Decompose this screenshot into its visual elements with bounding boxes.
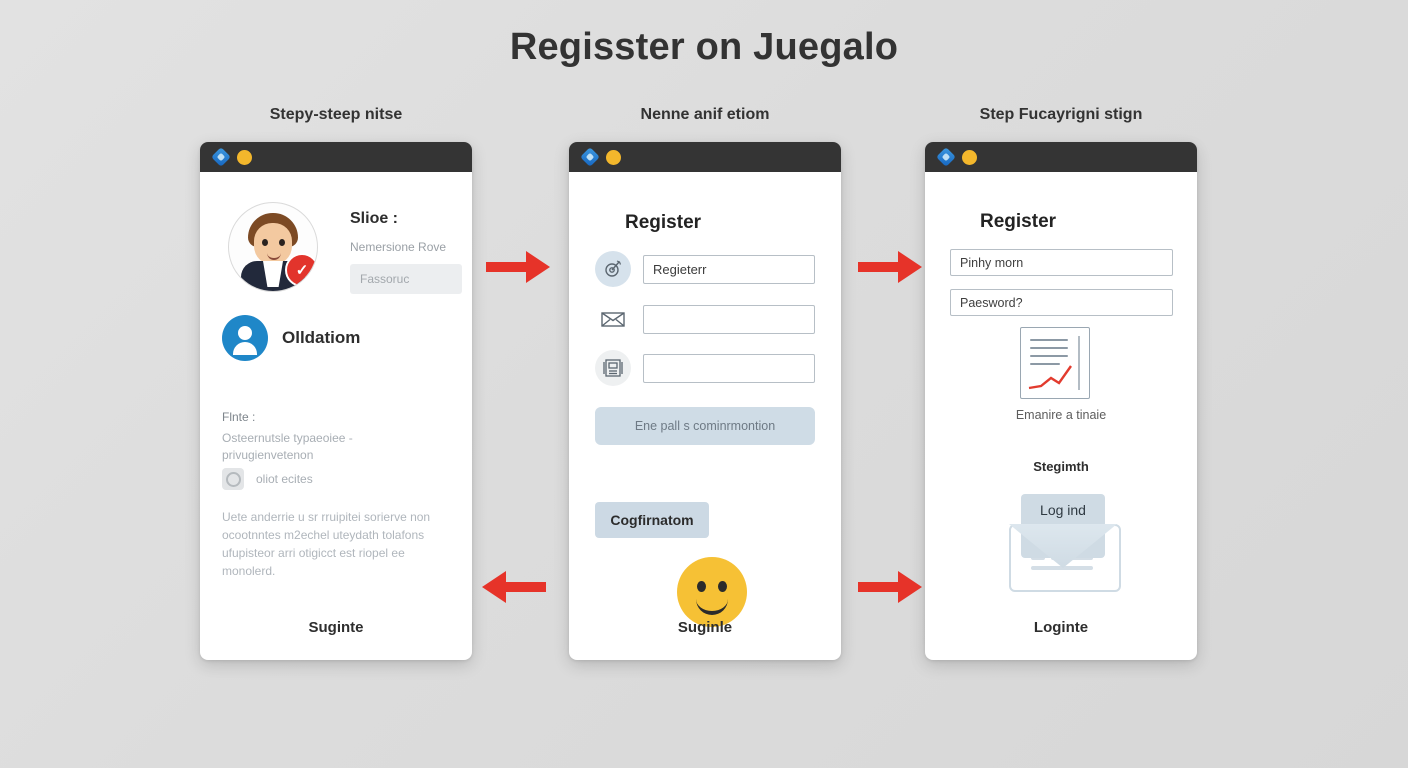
envelope-icon xyxy=(595,301,631,337)
send-confirmation-button[interactable]: Ene pall s cominrmontion xyxy=(595,407,815,445)
arrow-shaft xyxy=(500,582,546,592)
card-two-body: Register Regieterr xyxy=(569,172,841,660)
arrow-card2-to-card1-bottom xyxy=(476,571,546,603)
diamond-icon xyxy=(580,147,600,167)
email-input[interactable] xyxy=(643,305,815,334)
validation-label: Olldatiom xyxy=(282,328,360,348)
avatar-row: ✓ Slioe : Nemersione Rove Fassoruc xyxy=(218,202,456,302)
avatar-eye-right xyxy=(279,239,285,246)
diamond-icon xyxy=(936,147,956,167)
slide-title: Slioe : xyxy=(350,210,462,228)
arrow-head xyxy=(482,571,506,603)
smiley-mouth xyxy=(696,593,728,615)
column-two: Nenne anif etiom Register xyxy=(569,104,841,660)
confirm-button[interactable]: Cogfirnatom xyxy=(595,502,709,538)
page-title: Regisster on Juegalo xyxy=(0,26,1408,69)
circle-dot-icon xyxy=(237,150,252,165)
column-one-header: Stepy-steep nitse xyxy=(200,104,472,126)
envelope-open-icon: Log ind xyxy=(1003,494,1123,592)
register-heading: Register xyxy=(625,212,701,234)
radio-circle-icon[interactable] xyxy=(222,468,244,490)
card-three-body: Register Pinhy morn Paesword? Emanire a … xyxy=(925,172,1197,660)
password-field[interactable]: Fassoruc xyxy=(350,264,462,294)
card-step-three[interactable]: Register Pinhy morn Paesword? Emanire a … xyxy=(925,142,1197,660)
card-two-footer-label: Suginle xyxy=(569,619,841,636)
slide-subtitle: Nemersione Rove xyxy=(350,240,462,254)
arrow-head xyxy=(898,251,922,283)
strength-label: Stegimth xyxy=(925,459,1197,474)
diamond-icon xyxy=(211,147,231,167)
circle-dot-icon xyxy=(606,150,621,165)
register-heading: Register xyxy=(980,211,1056,233)
card-one-titlebar xyxy=(200,142,472,172)
user-avatar: ✓ xyxy=(228,202,318,292)
card-three-footer-label: Loginte xyxy=(925,619,1197,636)
id-card-icon xyxy=(595,350,631,386)
doc-line xyxy=(1030,355,1068,357)
card-two-titlebar xyxy=(569,142,841,172)
login-password-input[interactable]: Paesword? xyxy=(950,289,1173,316)
arrow-card2-to-card3-bottom xyxy=(858,571,928,603)
avatar-eye-left xyxy=(262,239,268,246)
arrow-head xyxy=(526,251,550,283)
username-input[interactable]: Regieterr xyxy=(643,255,815,284)
card-three-titlebar xyxy=(925,142,1197,172)
arrow-card1-to-card2 xyxy=(486,251,556,283)
validation-row: Olldatiom xyxy=(222,315,360,361)
terms-checkbox-row[interactable]: oliot ecites xyxy=(222,468,313,490)
trend-line-icon xyxy=(1021,358,1087,394)
card-one-body: ✓ Slioe : Nemersione Rove Fassoruc Ollda… xyxy=(200,172,472,660)
document-caption: Emanire a tinaie xyxy=(925,408,1197,422)
card-one-footer-label: Suginte xyxy=(200,619,472,636)
target-icon xyxy=(595,251,631,287)
terms-checkbox-label: oliot ecites xyxy=(256,472,313,486)
smiley-face-icon xyxy=(677,557,747,627)
smiley-eye-right xyxy=(718,581,727,592)
column-one: Stepy-steep nitse ✓ xyxy=(200,104,472,660)
user-circle-icon xyxy=(222,315,268,361)
arrow-head xyxy=(898,571,922,603)
circle-dot-icon xyxy=(962,150,977,165)
register-field-email[interactable] xyxy=(595,302,815,336)
arrow-card2-to-card3 xyxy=(858,251,928,283)
column-two-header: Nenne anif etiom xyxy=(569,104,841,126)
card-step-two[interactable]: Register Regieterr xyxy=(569,142,841,660)
smiley-eye-left xyxy=(697,581,706,592)
fine-print-heading: Flnte : xyxy=(222,410,255,424)
columns-container: Stepy-steep nitse ✓ xyxy=(0,104,1408,704)
id-input[interactable] xyxy=(643,354,815,383)
register-field-id[interactable] xyxy=(595,351,815,385)
doc-line xyxy=(1030,339,1068,341)
column-three: Step Fucayrigni stign Register Pinhy mor… xyxy=(925,104,1197,660)
column-three-header: Step Fucayrigni stign xyxy=(925,104,1197,126)
document-chart-icon xyxy=(1020,327,1090,399)
verified-check-icon: ✓ xyxy=(285,253,318,287)
legal-paragraph: Uete anderrie u sr rruipitei sorierve no… xyxy=(222,508,454,580)
login-name-input[interactable]: Pinhy morn xyxy=(950,249,1173,276)
avatar-side-panel: Slioe : Nemersione Rove Fassoruc xyxy=(350,210,462,294)
register-field-username[interactable]: Regieterr xyxy=(595,252,815,286)
card-step-one[interactable]: ✓ Slioe : Nemersione Rove Fassoruc Ollda… xyxy=(200,142,472,660)
doc-line xyxy=(1030,347,1068,349)
fine-print-body: Osteernutsle typaeoiee - privugienveteno… xyxy=(222,430,440,464)
